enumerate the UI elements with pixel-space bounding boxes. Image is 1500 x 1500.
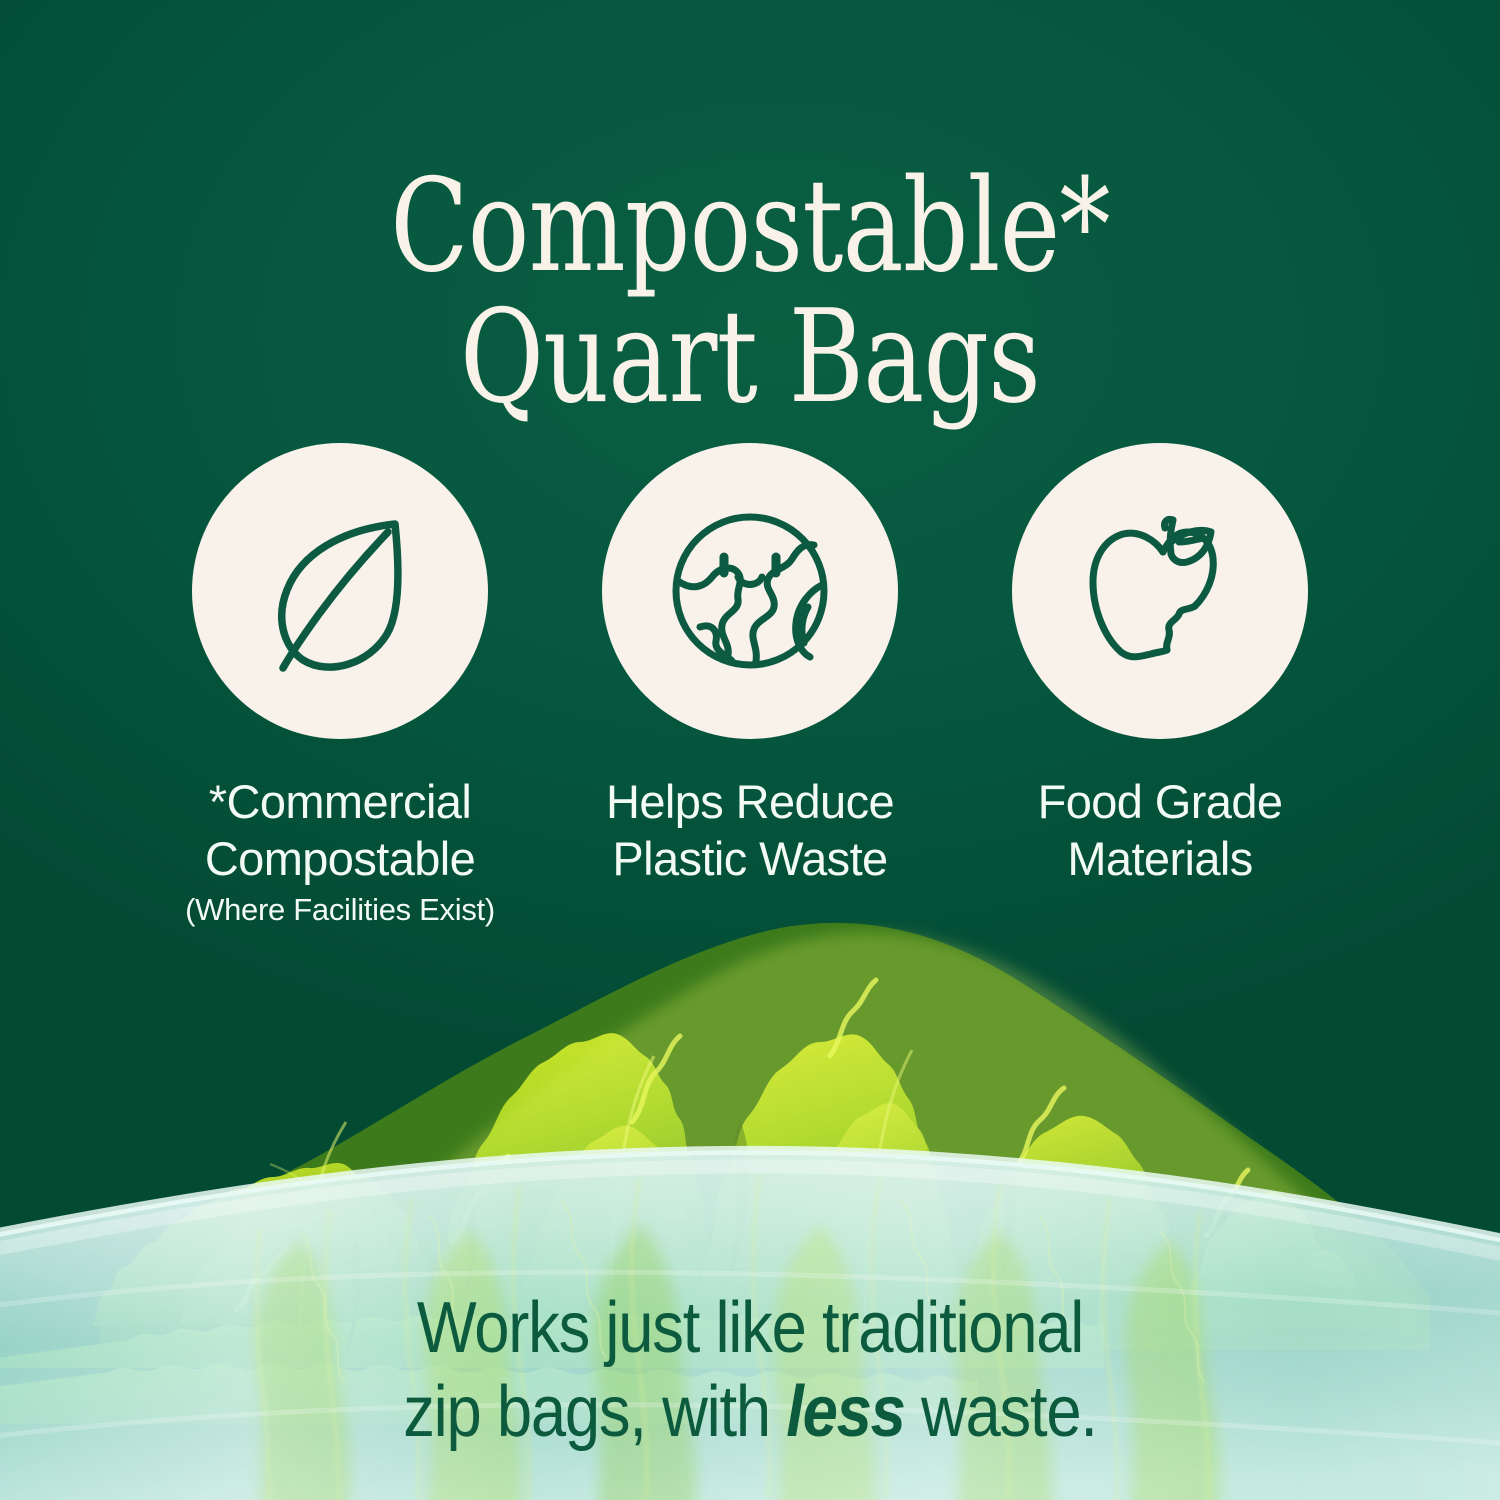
page-title: Compostable* Quart Bags — [150, 164, 1350, 421]
tagline-post: waste. — [905, 1372, 1097, 1452]
smiling-earth-icon — [654, 495, 846, 687]
tagline-line-2: zip bags, with less waste. — [90, 1370, 1410, 1454]
product-feature-panel: Compostable* Quart Bags *Commercial Comp… — [0, 0, 1500, 1500]
feature-caption: Food Grade Materials — [975, 773, 1345, 888]
feature-icon-badge — [1012, 443, 1308, 739]
feature-helps-reduce-plastic-waste: Helps Reduce Plastic Waste — [600, 443, 900, 928]
tagline-line-1: Works just like traditional — [90, 1286, 1410, 1370]
feature-sublabel: (Where Facilities Exist) — [155, 891, 525, 928]
feature-food-grade-materials: Food Grade Materials — [1010, 443, 1310, 928]
feature-caption: Helps Reduce Plastic Waste — [565, 773, 935, 888]
title-line-2: Quart Bags — [150, 295, 1350, 420]
feature-label-line-2: Materials — [1067, 832, 1252, 885]
feature-label-line-1: Helps Reduce — [606, 775, 894, 828]
feature-list: *Commercial Compostable (Where Facilitie… — [0, 443, 1500, 928]
feature-label-line-2: Plastic Waste — [612, 832, 887, 885]
tagline: Works just like traditional zip bags, wi… — [90, 1286, 1410, 1454]
feature-label-line-2: Compostable — [205, 832, 475, 885]
tagline-pre: zip bags, with — [403, 1372, 786, 1452]
leaf-icon — [245, 496, 435, 686]
feature-icon-badge — [602, 443, 898, 739]
feature-caption: *Commercial Compostable (Where Facilitie… — [155, 773, 525, 928]
feature-label-line-1: Food Grade — [1038, 775, 1283, 828]
title-line-1: Compostable* — [150, 164, 1350, 289]
tagline-emphasis: less — [786, 1372, 904, 1452]
bitten-apple-icon — [1067, 498, 1253, 684]
feature-label-line-1: *Commercial — [209, 775, 471, 828]
feature-commercial-compostable: *Commercial Compostable (Where Facilitie… — [190, 443, 490, 928]
feature-icon-badge — [192, 443, 488, 739]
